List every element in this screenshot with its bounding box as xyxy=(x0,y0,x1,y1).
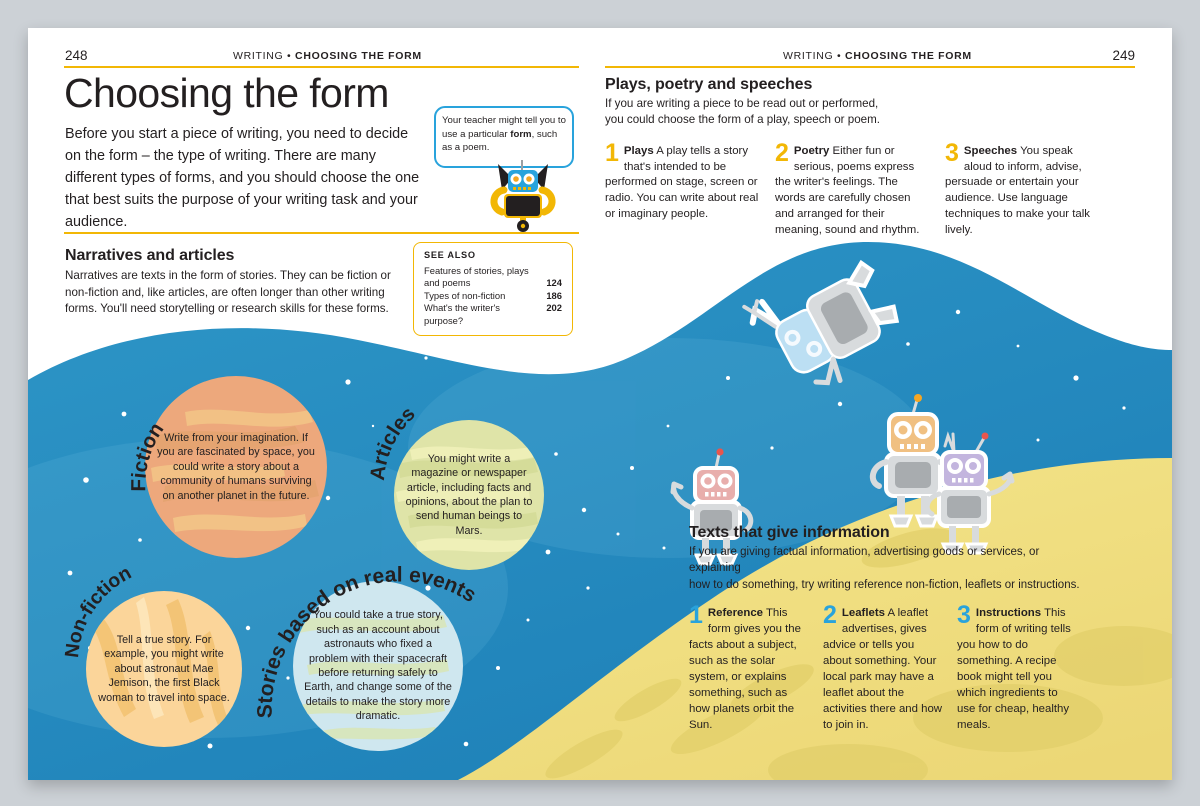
planet-stories-real-events: You could take a true story, such as an … xyxy=(293,581,463,751)
see-also-entry-0[interactable]: and poems 124 xyxy=(424,277,562,289)
plays-item-2-text: Either fun or serious, poems express the… xyxy=(775,145,919,236)
texts-item-1: 1Reference This form gives you the facts… xyxy=(689,606,811,734)
see-also-entry-0-line2: and poems xyxy=(424,277,470,289)
texts-item-2: 2Leaflets A leaflet advertises, gives ad… xyxy=(823,606,945,734)
see-also-entry-1-page: 186 xyxy=(540,290,562,302)
plays-item-3-lead: Speeches xyxy=(964,145,1017,157)
bubble-bold-word: form xyxy=(510,129,531,140)
texts-item-1-number: 1 xyxy=(689,606,703,626)
plays-lede-line-2: you could choose the form of a play, spe… xyxy=(605,113,880,126)
texts-items: 1Reference This form gives you the facts… xyxy=(689,606,1084,734)
texts-lede-line-1: If you are giving factual information, a… xyxy=(689,546,1039,574)
plays-item-2-number: 2 xyxy=(775,144,789,164)
intro-paragraph: Before you start a piece of writing, you… xyxy=(65,124,425,233)
see-also-entry-2-label: What's the writer's purpose? xyxy=(424,302,540,327)
header-rule-left xyxy=(64,66,579,68)
section-rule-left xyxy=(64,232,579,234)
see-also-entry-2[interactable]: What's the writer's purpose? 202 xyxy=(424,302,562,327)
narratives-body: Narratives are texts in the form of stor… xyxy=(65,268,395,318)
plays-heading: Plays, poetry and speeches xyxy=(605,76,1105,94)
planet-non-fiction-text: Tell a true story. For example, you migh… xyxy=(86,633,242,705)
see-also-entry-0-page: 124 xyxy=(540,277,562,289)
bubble-line-1: Your teacher might tell xyxy=(442,115,537,126)
plays-item-3: 3Speeches You speak aloud to inform, adv… xyxy=(945,144,1101,238)
see-also-entry-0-line1: Features of stories, plays xyxy=(424,265,562,277)
texts-lede: If you are giving factual information, a… xyxy=(689,544,1084,593)
planet-articles: You might write a magazine or newspaper … xyxy=(394,420,544,570)
running-head-right: WRITING • CHOOSING THE FORM xyxy=(783,50,972,62)
plays-item-2-lead: Poetry xyxy=(794,145,829,157)
planet-fiction-text: Write from your imagination. If you are … xyxy=(145,431,327,503)
book-spread: 248 WRITING • CHOOSING THE FORM 249 WRIT… xyxy=(28,28,1172,780)
see-also-entry-1-label: Types of non-fiction xyxy=(424,290,505,302)
speech-bubble-text: Your teacher might tell you to use a par… xyxy=(442,114,566,155)
planet-stories-text: You could take a true story, such as an … xyxy=(293,608,463,724)
texts-item-2-number: 2 xyxy=(823,606,837,626)
texts-item-3-number: 3 xyxy=(957,606,971,626)
plays-items: 1Plays A play tells a story that's inten… xyxy=(605,144,1105,238)
narratives-section: Narratives and articles Narratives are t… xyxy=(65,247,395,318)
texts-lede-line-2: how to do something, try writing referen… xyxy=(689,579,1080,591)
running-head-left-sep: • xyxy=(287,50,291,62)
running-head-right-sep: • xyxy=(837,50,841,62)
texts-item-1-lead: Reference xyxy=(708,607,763,619)
plays-item-1-number: 1 xyxy=(605,144,619,164)
page-title: Choosing the form xyxy=(64,70,389,117)
running-head-left: WRITING • CHOOSING THE FORM xyxy=(233,50,422,62)
texts-that-give-information-section: Texts that give information If you are g… xyxy=(689,524,1084,734)
planet-non-fiction: Tell a true story. For example, you migh… xyxy=(86,591,242,747)
see-also-box: SEE ALSO Features of stories, plays and … xyxy=(413,242,573,336)
plays-lede-line-1: If you are writing a piece to be read ou… xyxy=(605,97,878,110)
plays-lede: If you are writing a piece to be read ou… xyxy=(605,96,1105,129)
texts-heading: Texts that give information xyxy=(689,524,1084,542)
planet-articles-text: You might write a magazine or newspaper … xyxy=(394,452,544,539)
texts-item-2-text: A leaflet advertises, gives advice or te… xyxy=(823,607,942,731)
see-also-title: SEE ALSO xyxy=(424,250,562,260)
running-head-right-topic: CHOOSING THE FORM xyxy=(845,50,972,62)
plays-item-1-lead: Plays xyxy=(624,145,654,157)
narratives-heading: Narratives and articles xyxy=(65,247,395,265)
texts-item-3-text: This form of writing tells you how to do… xyxy=(957,607,1071,731)
plays-item-3-number: 3 xyxy=(945,144,959,164)
folio-left: 248 xyxy=(65,48,88,63)
see-also-entry-2-page: 202 xyxy=(540,302,562,327)
plays-poetry-speeches-section: Plays, poetry and speeches If you are wr… xyxy=(605,76,1105,238)
running-head-left-section: WRITING xyxy=(233,50,283,62)
plays-item-3-text: You speak aloud to inform, advise, persu… xyxy=(945,145,1090,236)
texts-item-3-lead: Instructions xyxy=(976,607,1041,619)
texts-item-3: 3Instructions This form of writing tells… xyxy=(957,606,1079,734)
running-head-left-topic: CHOOSING THE FORM xyxy=(295,50,422,62)
see-also-entry-1[interactable]: Types of non-fiction 186 xyxy=(424,290,562,302)
running-head-right-section: WRITING xyxy=(783,50,833,62)
texts-item-1-text: This form gives you the facts about a su… xyxy=(689,607,801,731)
header-rule-right xyxy=(605,66,1135,68)
planet-fiction: Write from your imagination. If you are … xyxy=(145,376,327,558)
plays-item-2: 2Poetry Either fun or serious, poems exp… xyxy=(775,144,931,238)
folio-right: 249 xyxy=(1112,48,1135,63)
texts-item-2-lead: Leaflets xyxy=(842,607,885,619)
plays-item-1: 1Plays A play tells a story that's inten… xyxy=(605,144,761,238)
robot-teacher-blue-icon xyxy=(468,160,578,232)
